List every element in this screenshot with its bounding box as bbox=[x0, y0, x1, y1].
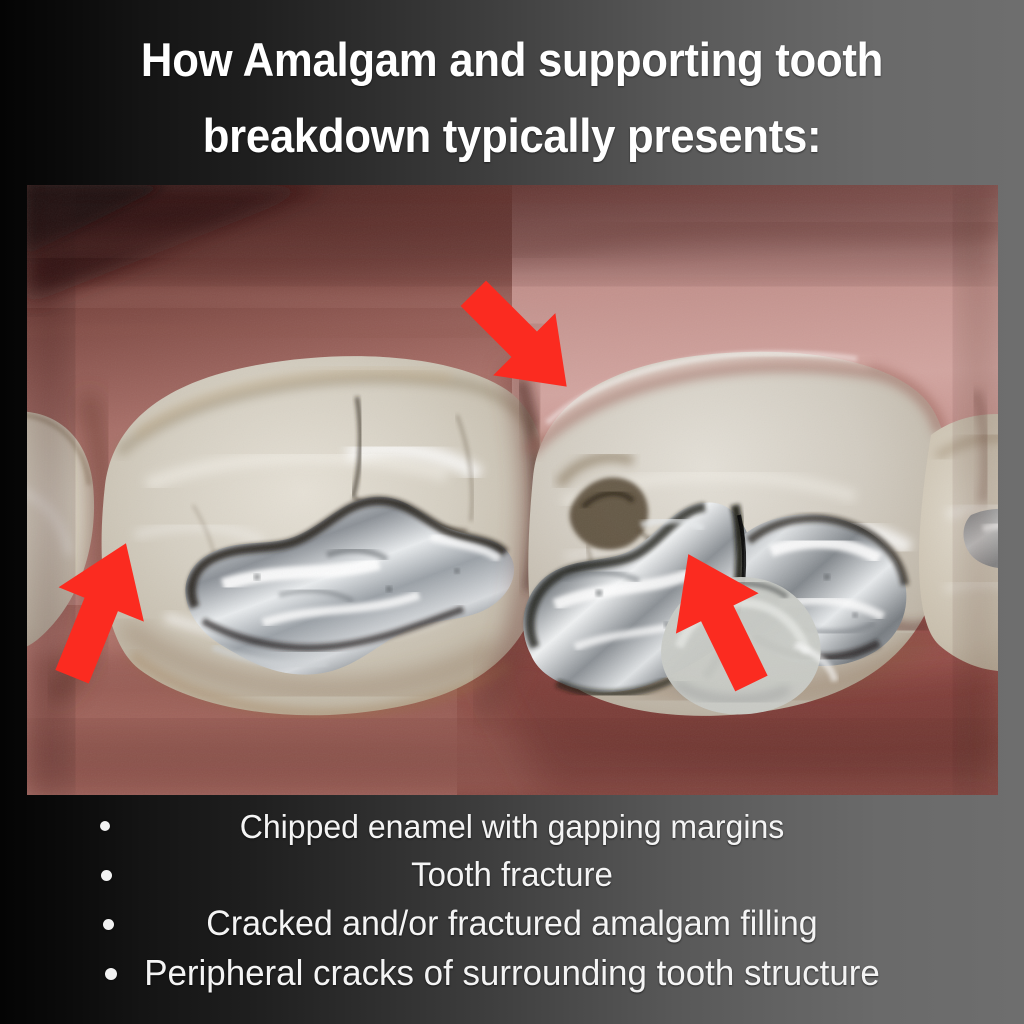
clinical-photo bbox=[27, 185, 998, 795]
list-item: Tooth fracture bbox=[0, 851, 1024, 900]
list-item-label: Tooth fracture bbox=[15, 856, 1008, 895]
list-item: Peripheral cracks of surrounding tooth s… bbox=[0, 949, 1024, 998]
list-item: Cracked and/or fractured amalgam filling bbox=[0, 900, 1024, 949]
list-item-label: Chipped enamel with gapping margins bbox=[15, 808, 1008, 846]
title-line-1: How Amalgam and supporting tooth bbox=[56, 22, 967, 98]
title-line-2: breakdown typically presents: bbox=[56, 98, 967, 174]
clinical-photo-illustration bbox=[27, 185, 998, 795]
list-item: Chipped enamel with gapping margins bbox=[0, 802, 1024, 851]
symptom-list: Chipped enamel with gapping margins Toot… bbox=[0, 802, 1024, 1024]
infographic-poster: How Amalgam and supporting tooth breakdo… bbox=[0, 0, 1024, 1024]
list-item-label: Cracked and/or fractured amalgam filling bbox=[15, 904, 1008, 944]
page-title: How Amalgam and supporting tooth breakdo… bbox=[0, 22, 1024, 174]
list-item-label: Peripheral cracks of surrounding tooth s… bbox=[15, 952, 1008, 994]
